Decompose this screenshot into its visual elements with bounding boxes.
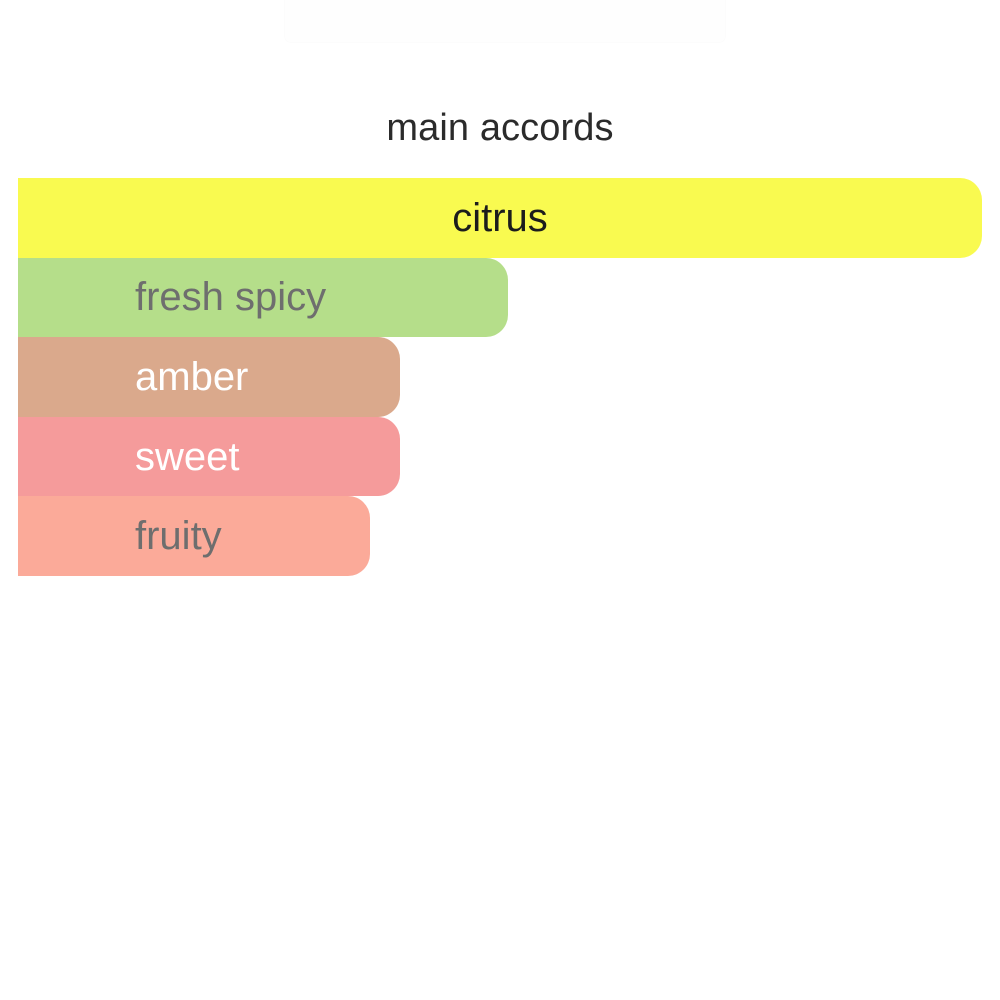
- accord-bar-sweet[interactable]: sweet: [18, 417, 400, 497]
- accord-bar-citrus[interactable]: citrus: [18, 178, 982, 258]
- accord-bar-fruity[interactable]: fruity: [18, 496, 370, 576]
- accord-bar-fill: [18, 337, 400, 417]
- accord-bar-fresh-spicy[interactable]: fresh spicy: [18, 258, 508, 338]
- accord-bar-fill: [18, 417, 400, 497]
- accord-bar-fill: [18, 178, 982, 258]
- top-ghost-panel: [285, 0, 725, 42]
- accord-bar-fill: [18, 496, 370, 576]
- accord-bar-list: citrusfresh spicyambersweetfruity: [18, 178, 1000, 578]
- accord-bar-fill: [18, 258, 508, 338]
- accord-bar-amber[interactable]: amber: [18, 337, 400, 417]
- chart-title: main accords: [0, 104, 1000, 152]
- main-accords-chart: main accords citrusfresh spicyambersweet…: [0, 0, 1000, 1000]
